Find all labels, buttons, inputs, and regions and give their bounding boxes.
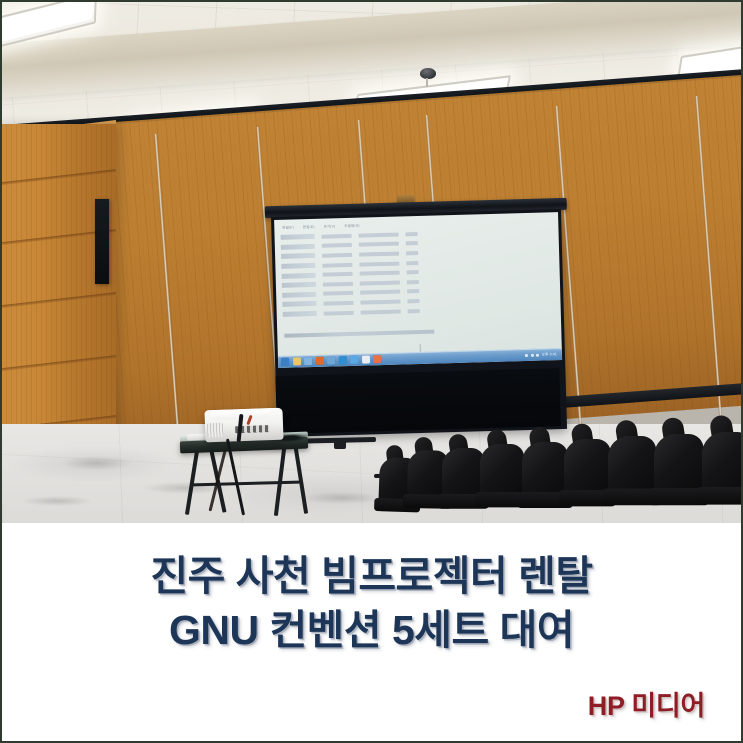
projection-screen: 파일(F) 편집(E) 보기(V) 도움말(H) — [271, 198, 570, 446]
ceiling-dome-camera-icon — [420, 68, 436, 79]
floor-marble-vein — [22, 496, 92, 506]
menu-item-view: 보기(V) — [324, 223, 336, 228]
system-tray[interactable]: 오후 3:41 — [525, 352, 559, 358]
text-caret — [420, 344, 421, 352]
screen-surface: 파일(F) 편집(E) 보기(V) 도움말(H) — [274, 212, 562, 368]
room-photo: 파일(F) 편집(E) 보기(V) 도움말(H) — [2, 0, 743, 523]
projected-status-line — [284, 330, 434, 338]
floor-marble-vein — [62, 456, 132, 470]
doc-icon[interactable] — [361, 355, 369, 363]
wall-display-panel — [95, 199, 109, 284]
floor-marble-vein — [302, 492, 382, 504]
screen-frame: 파일(F) 편집(E) 보기(V) 도움말(H) — [271, 209, 567, 437]
promo-text-block: 진주 사천 빔프로젝터 렌탈 GNU 컨벤션 5세트 대여 HP 미디어 — [2, 523, 741, 741]
media-icon[interactable] — [304, 357, 312, 365]
promo-card: 파일(F) 편집(E) 보기(V) 도움말(H) — [0, 0, 743, 743]
brand-tag: HP 미디어 — [588, 684, 705, 723]
explorer-icon[interactable] — [292, 357, 300, 365]
menu-item-edit: 편집(E) — [303, 224, 315, 229]
folder-icon[interactable] — [327, 356, 335, 364]
screen-base-foot — [334, 440, 346, 449]
tray-dot-icon — [531, 353, 534, 356]
tray-dot-icon — [536, 353, 539, 356]
projected-taskbar: 오후 3:41 — [278, 348, 562, 368]
start-icon[interactable] — [281, 358, 289, 366]
tray-dot-icon — [525, 353, 528, 356]
projector-vent — [207, 423, 223, 438]
menu-item-file: 파일(F) — [282, 224, 294, 229]
screen-lower-black-band — [275, 368, 561, 434]
projected-menubar: 파일(F) 편집(E) 보기(V) 도움말(H) — [282, 223, 359, 230]
taskbar-clock: 오후 3:41 — [542, 352, 557, 357]
menu-item-help: 도움말(H) — [344, 223, 359, 228]
chrome-2-icon[interactable] — [373, 355, 381, 363]
headline-line-2: GNU 컨벤션 5세트 대여 — [169, 603, 574, 657]
headline-line-1: 진주 사천 빔프로젝터 렌탈 — [150, 549, 592, 603]
app-orange-icon[interactable] — [315, 357, 323, 365]
projector-remote-control — [187, 434, 206, 441]
chrome-icon[interactable] — [350, 356, 358, 364]
projected-text-rows — [280, 227, 482, 319]
beam-projector — [204, 408, 283, 443]
edge-icon[interactable] — [338, 356, 346, 364]
